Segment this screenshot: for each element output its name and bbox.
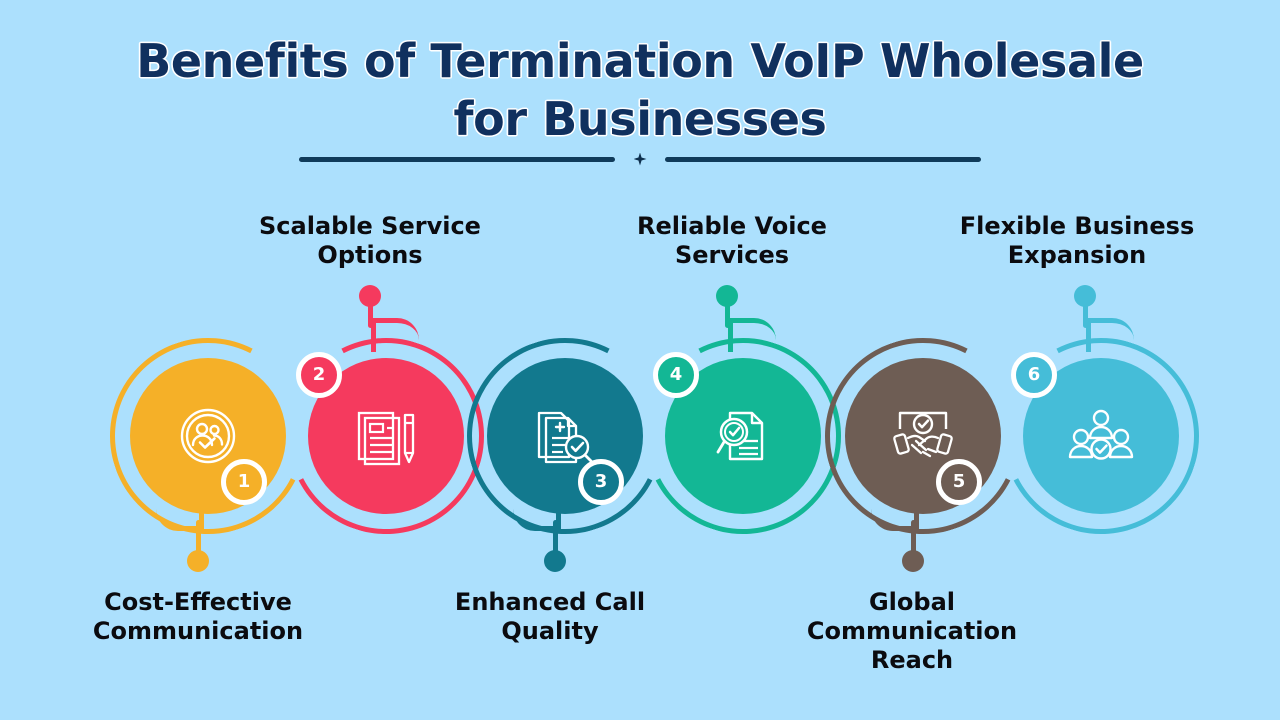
handshake-check-icon <box>890 407 956 465</box>
divider-bar-right <box>665 157 981 162</box>
item-5-badge: 5 <box>936 459 982 505</box>
item-6-badge-number: 6 <box>1028 366 1041 384</box>
document-check-search-icon <box>533 405 597 467</box>
item-3-label: Enhanced Call Quality <box>400 588 700 646</box>
item-2-badge-number: 2 <box>313 366 326 384</box>
item-4-connector-dot <box>716 285 738 307</box>
item-3-badge-number: 3 <box>595 473 608 491</box>
item-2-label: Scalable Service Options <box>218 212 522 270</box>
item-4-badge: 4 <box>653 352 699 398</box>
magnifier-check-document-icon <box>712 405 774 467</box>
document-pencil-icon <box>353 405 419 467</box>
item-4-label: Reliable Voice Services <box>580 212 884 270</box>
item-6-label: Flexible Business Expansion <box>925 212 1229 270</box>
item-3-connector-dot <box>544 550 566 572</box>
item-2-badge: 2 <box>296 352 342 398</box>
item-2-connector-dot <box>359 285 381 307</box>
item-5-connector-dot <box>902 550 924 572</box>
diamond-icon <box>629 148 651 170</box>
item-6-connector-dot <box>1074 285 1096 307</box>
item-6-badge: 6 <box>1011 352 1057 398</box>
three-people-check-icon <box>1068 409 1134 463</box>
item-2-connector-elbow <box>371 318 419 352</box>
item-1-badge: 1 <box>221 459 267 505</box>
title-line-2: for Businesses <box>0 90 1280 148</box>
divider-bar-left <box>299 157 615 162</box>
infographic-canvas: Benefits of Termination VoIP Wholesale f… <box>0 0 1280 720</box>
item-6-connector-elbow <box>1086 318 1134 352</box>
item-1-label: Cost-Effective Communication <box>36 588 360 646</box>
title-line-1: Benefits of Termination VoIP Wholesale <box>0 32 1280 90</box>
item-5-badge-number: 5 <box>953 473 966 491</box>
item-1-connector-dot <box>187 550 209 572</box>
title-divider <box>0 148 1280 170</box>
item-3-badge: 3 <box>578 459 624 505</box>
item-5-label: Global Communication Reach <box>760 588 1064 675</box>
people-heart-circle-icon <box>177 405 239 467</box>
item-4-badge-number: 4 <box>670 366 683 384</box>
page-title: Benefits of Termination VoIP Wholesale f… <box>0 32 1280 148</box>
item-4-connector-elbow <box>728 318 776 352</box>
item-1-badge-number: 1 <box>238 473 251 491</box>
